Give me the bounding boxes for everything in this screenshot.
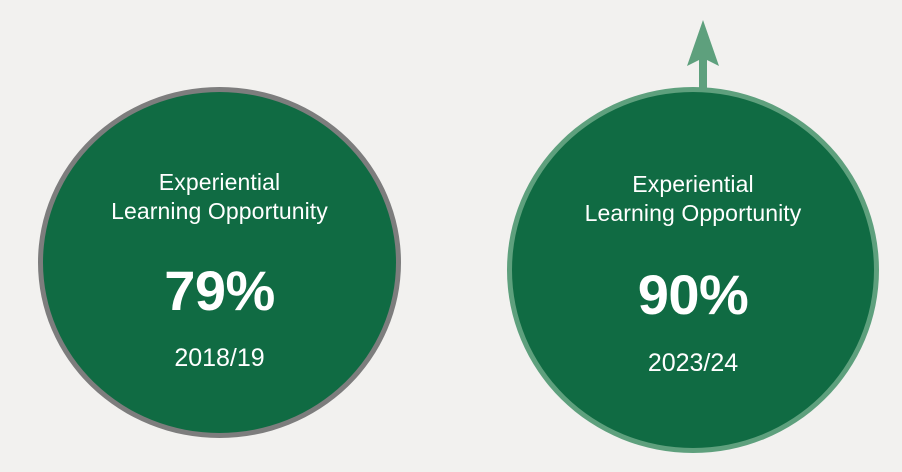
stat-value-target: 90% (638, 267, 749, 323)
growth-arrow-svg (684, 18, 722, 98)
stat-period-baseline: 2018/19 (174, 346, 264, 371)
growth-arrow-icon (684, 18, 722, 98)
stat-period-target: 2023/24 (648, 351, 738, 376)
experiential-learning-infographic: Experiential Learning Opportunity 79% 20… (0, 0, 902, 472)
stat-value-baseline: 79% (164, 263, 275, 319)
stat-circle-target: Experiential Learning Opportunity 90% 20… (507, 87, 879, 453)
stat-circle-baseline: Experiential Learning Opportunity 79% 20… (38, 87, 401, 438)
stat-label-target: Experiential Learning Opportunity (585, 170, 802, 229)
stat-label-baseline: Experiential Learning Opportunity (111, 168, 328, 227)
